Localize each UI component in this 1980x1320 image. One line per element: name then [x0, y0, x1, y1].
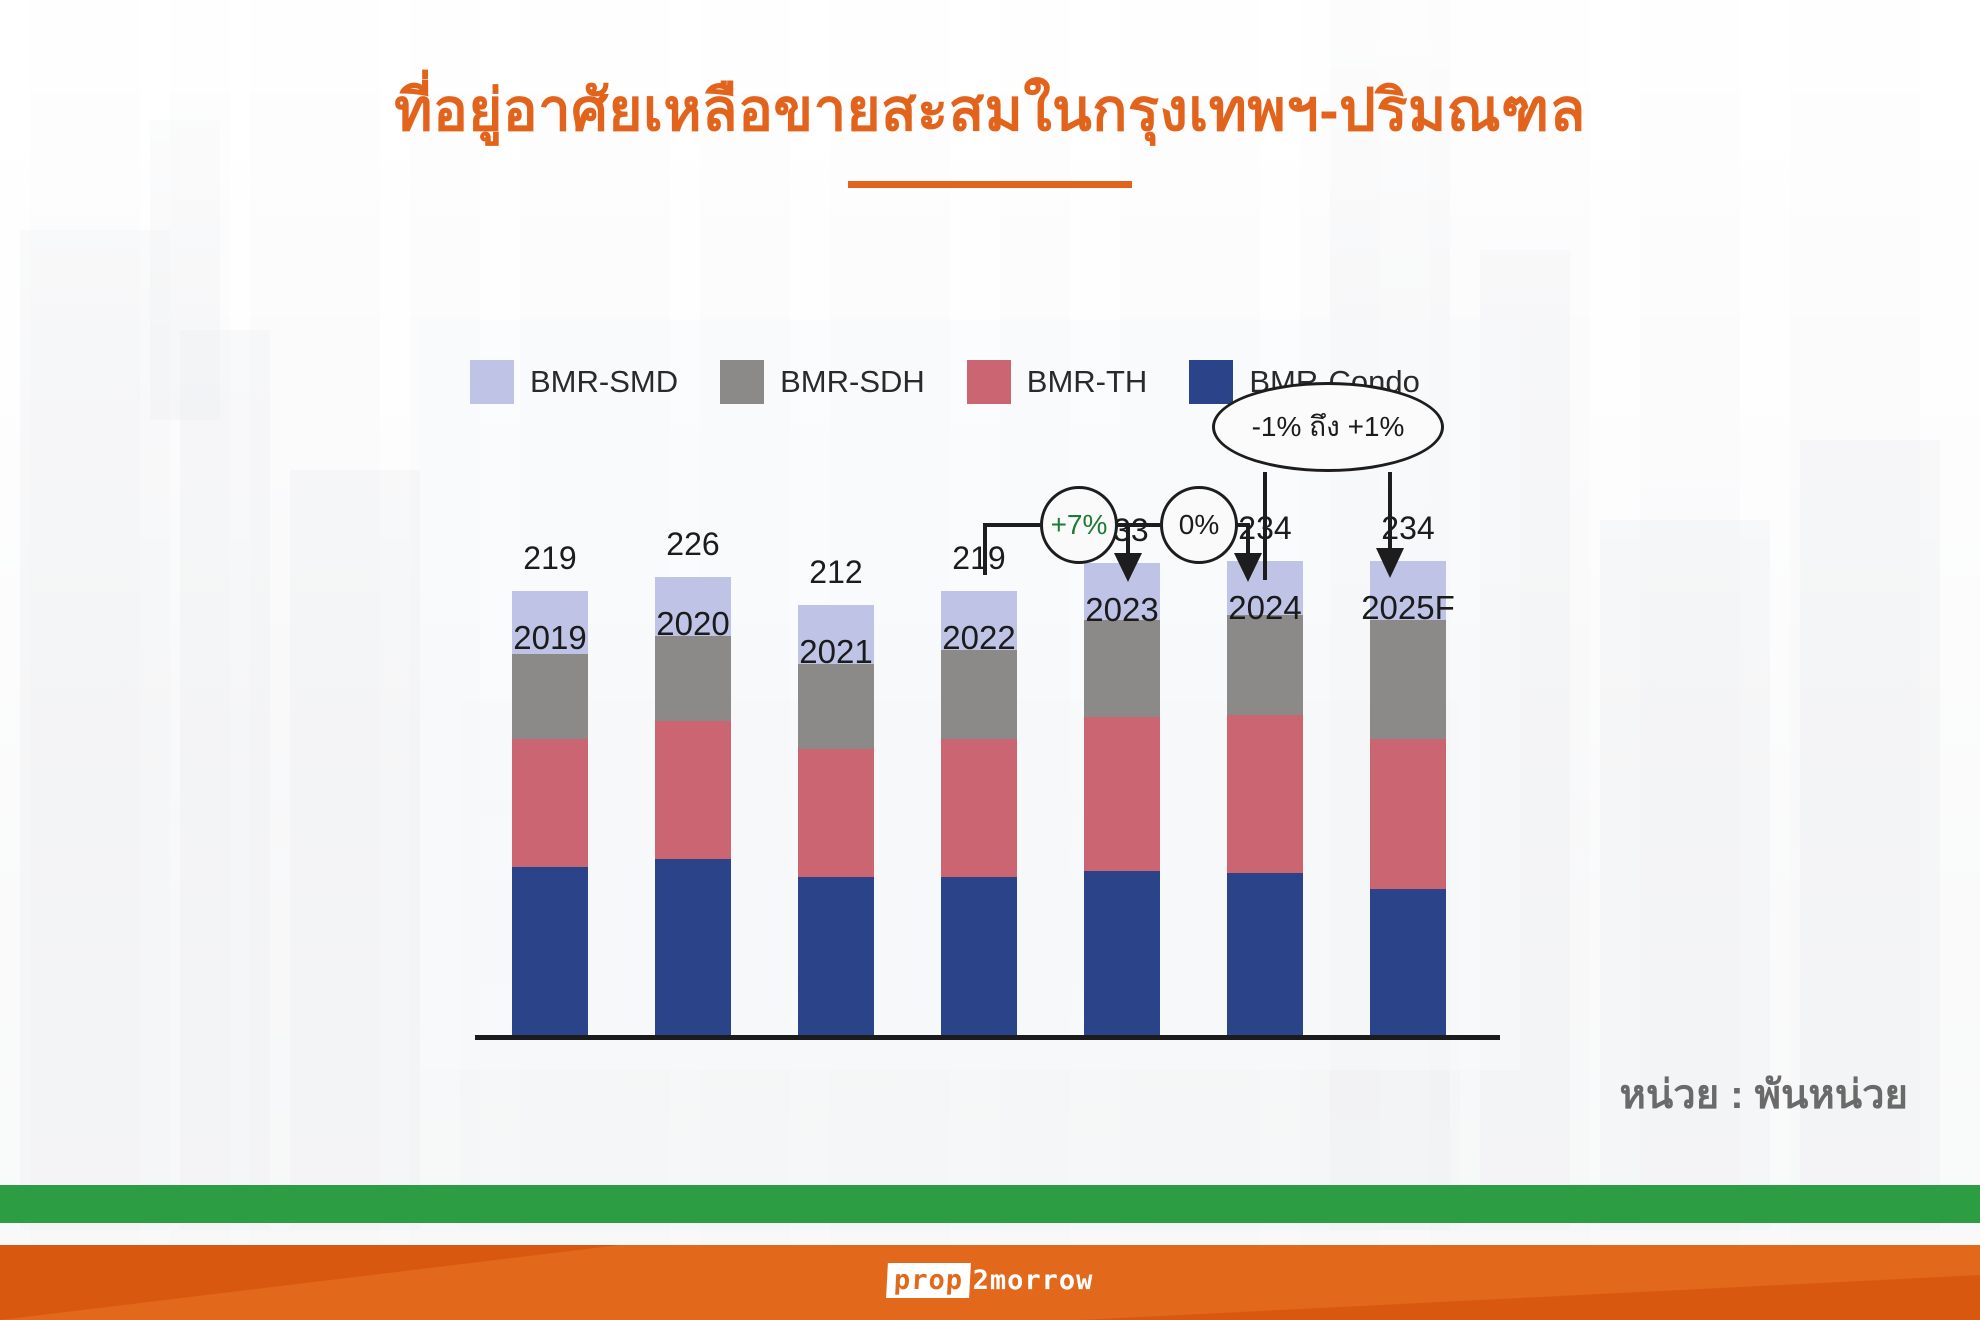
- bar-segment-bmr-condo[interactable]: [1370, 889, 1446, 1035]
- bar-group-2020[interactable]: 2262020: [655, 577, 731, 1035]
- bar-segment-bmr-th[interactable]: [512, 739, 588, 867]
- stacked-bar: [941, 591, 1017, 1035]
- bar-segment-bmr-condo[interactable]: [512, 867, 588, 1035]
- legend-label-bmr-th: BMR-TH: [1027, 364, 1148, 400]
- bar-segment-bmr-th[interactable]: [1370, 739, 1446, 889]
- bar-segment-bmr-sdh[interactable]: [1084, 620, 1160, 717]
- legend-item-bmr-sdh[interactable]: BMR-SDH: [720, 360, 925, 404]
- bar-segment-bmr-sdh[interactable]: [1370, 620, 1446, 740]
- bar-group-2019[interactable]: 2192019: [512, 591, 588, 1035]
- brand-logo-word: 2morrow: [973, 1265, 1094, 1296]
- legend-swatch-bmr-condo: [1189, 360, 1233, 404]
- bar-segment-bmr-th[interactable]: [1084, 717, 1160, 871]
- bar-group-2022[interactable]: 2192022: [941, 591, 1017, 1035]
- bar-group-2023[interactable]: 2332023: [1084, 563, 1160, 1035]
- footer-green-bar: [0, 1185, 1980, 1223]
- bar-segment-bmr-th[interactable]: [655, 721, 731, 859]
- unit-note: หน่วย : พันหน่วย: [1620, 1062, 1908, 1126]
- bar-group-2021[interactable]: 2122021: [798, 605, 874, 1035]
- bar-segment-bmr-th[interactable]: [798, 749, 874, 877]
- brand-logo-mark: prop: [886, 1263, 971, 1298]
- legend-label-bmr-smd: BMR-SMD: [530, 364, 678, 400]
- stacked-bar: [1084, 563, 1160, 1035]
- legend-label-bmr-condo: BMR-Condo: [1249, 364, 1420, 400]
- bar-value-label: 212: [766, 554, 906, 591]
- bar-value-label: 234: [1338, 510, 1478, 547]
- bar-value-label: 233: [1052, 512, 1192, 549]
- bar-segment-bmr-condo[interactable]: [1084, 871, 1160, 1035]
- bar-segment-bmr-th[interactable]: [1227, 715, 1303, 873]
- bar-value-label: 234: [1195, 510, 1335, 547]
- bar-group-2024[interactable]: 2342024: [1227, 561, 1303, 1035]
- page-title: ที่อยู่อาศัยเหลือขายสะสมในกรุงเทพฯ-ปริมณ…: [0, 78, 1980, 145]
- stacked-bar: [1370, 561, 1446, 1035]
- legend-swatch-bmr-sdh: [720, 360, 764, 404]
- stacked-bar: [1227, 561, 1303, 1035]
- bar-segment-bmr-sdh[interactable]: [941, 650, 1017, 739]
- legend-swatch-bmr-smd: [470, 360, 514, 404]
- legend-swatch-bmr-th: [967, 360, 1011, 404]
- bar-segment-bmr-sdh[interactable]: [798, 664, 874, 749]
- title-block: ที่อยู่อาศัยเหลือขายสะสมในกรุงเทพฯ-ปริมณ…: [0, 78, 1980, 188]
- bar-segment-bmr-condo[interactable]: [941, 877, 1017, 1035]
- legend-label-bmr-sdh: BMR-SDH: [780, 364, 925, 400]
- bar-segment-bmr-condo[interactable]: [798, 877, 874, 1035]
- title-divider: [848, 181, 1132, 188]
- legend-item-bmr-th[interactable]: BMR-TH: [967, 360, 1148, 404]
- bar-segment-bmr-sdh[interactable]: [1227, 615, 1303, 714]
- legend-item-bmr-smd[interactable]: BMR-SMD: [470, 360, 678, 404]
- chart-legend: BMR-SMDBMR-SDHBMR-THBMR-Condo: [470, 360, 1420, 404]
- bar-value-label: 226: [623, 526, 763, 563]
- chart-plot-area: 2192019226202021220212192022233202323420…: [420, 500, 1520, 1040]
- stacked-bar: [512, 591, 588, 1035]
- x-axis-label-2025f: 2025F: [1323, 589, 1493, 627]
- legend-item-bmr-condo[interactable]: BMR-Condo: [1189, 360, 1420, 404]
- footer-orange-bar: prop2morrow: [0, 1245, 1980, 1320]
- bar-group-2025f[interactable]: 2342025F: [1370, 561, 1446, 1035]
- bar-value-label: 219: [480, 540, 620, 577]
- bar-segment-bmr-condo[interactable]: [1227, 873, 1303, 1035]
- bar-segment-bmr-sdh[interactable]: [655, 636, 731, 721]
- bar-segment-bmr-condo[interactable]: [655, 859, 731, 1035]
- brand-logo: prop2morrow: [0, 1263, 1980, 1298]
- stacked-bar: [655, 577, 731, 1035]
- bar-value-label: 219: [909, 540, 1049, 577]
- x-axis-line: [475, 1035, 1500, 1040]
- bar-segment-bmr-sdh[interactable]: [512, 654, 588, 739]
- bar-segment-bmr-th[interactable]: [941, 739, 1017, 877]
